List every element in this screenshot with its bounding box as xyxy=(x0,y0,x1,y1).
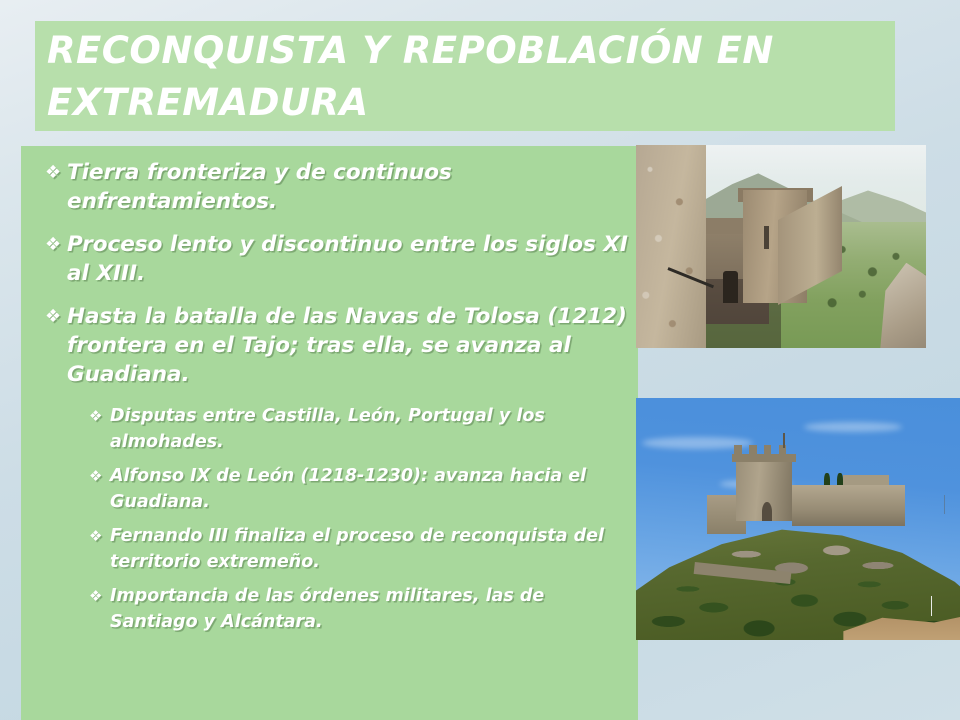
diamond-bullet-icon: ❖ xyxy=(45,302,66,331)
photo-antenna xyxy=(944,495,945,514)
diamond-bullet-icon: ❖ xyxy=(45,230,66,259)
photo-cloud xyxy=(804,422,901,432)
diamond-bullet-icon: ❖ xyxy=(89,403,109,429)
list-item-text: Hasta la batalla de las Navas de Tolosa … xyxy=(66,302,630,389)
sub-list-item: ❖ Fernando III finaliza el proceso de re… xyxy=(31,523,630,575)
diamond-bullet-icon: ❖ xyxy=(45,158,66,187)
photo-doorway xyxy=(723,271,738,303)
sub-list-item: ❖ Alfonso IX de León (1218-1230): avanza… xyxy=(31,463,630,515)
content-panel: ❖ Tierra fronteriza y de continuos enfre… xyxy=(21,146,638,720)
photo-foreground-wall xyxy=(636,145,706,348)
list-item-text: Tierra fronteriza y de continuos enfrent… xyxy=(66,158,630,216)
photo-gate-arch xyxy=(762,502,772,521)
photo-merlon xyxy=(734,445,741,454)
sub-list-item: ❖ Disputas entre Castilla, León, Portuga… xyxy=(31,403,630,455)
castle-wall-valley-photo xyxy=(636,145,926,348)
sub-list-item-text: Alfonso IX de León (1218-1230): avanza h… xyxy=(109,463,630,515)
photo-arrow-slit xyxy=(764,226,770,248)
sub-list-item-text: Importancia de las órdenes militares, la… xyxy=(109,583,630,635)
slide: RECONQUISTA Y REPOBLACIÓN EN EXTREMADURA… xyxy=(0,0,960,720)
photo-merlon xyxy=(749,445,756,454)
photo-curtain-wall-right xyxy=(792,485,905,526)
list-item: ❖ Tierra fronteriza y de continuos enfre… xyxy=(31,158,630,216)
bullet-list: ❖ Tierra fronteriza y de continuos enfre… xyxy=(21,146,638,643)
diamond-bullet-icon: ❖ xyxy=(89,463,109,489)
photo-flagpole xyxy=(783,433,785,448)
sub-list-item: ❖ Importancia de las órdenes militares, … xyxy=(31,583,630,635)
list-item: ❖ Proceso lento y discontinuo entre los … xyxy=(31,230,630,288)
photo-merlon xyxy=(764,445,771,454)
title-band: RECONQUISTA Y REPOBLACIÓN EN EXTREMADURA xyxy=(35,21,895,131)
list-item: ❖ Hasta la batalla de las Navas de Tolos… xyxy=(31,302,630,389)
photo-lamp-post xyxy=(931,596,933,615)
hilltop-castle-photo xyxy=(636,398,960,640)
diamond-bullet-icon: ❖ xyxy=(89,523,109,549)
page-title: RECONQUISTA Y REPOBLACIÓN EN EXTREMADURA xyxy=(47,25,883,129)
diamond-bullet-icon: ❖ xyxy=(89,583,109,609)
list-item-text: Proceso lento y discontinuo entre los si… xyxy=(66,230,630,288)
sub-list-item-text: Disputas entre Castilla, León, Portugal … xyxy=(109,403,630,455)
sub-list-item-text: Fernando III finaliza el proceso de reco… xyxy=(109,523,630,575)
photo-keep-battlement xyxy=(732,454,797,463)
